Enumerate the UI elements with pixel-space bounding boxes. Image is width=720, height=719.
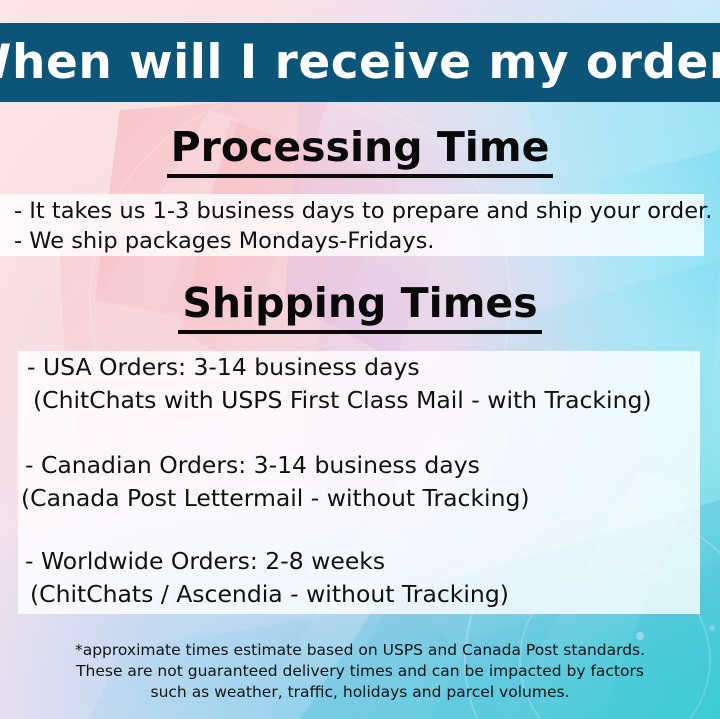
disclaimer-line-2: These are not guaranteed delivery times …: [0, 661, 720, 682]
section-heading-processing-time-label: Processing Time: [167, 127, 554, 178]
shipping-info-poster: When will I receive my order? Processing…: [0, 0, 720, 719]
section-heading-shipping-times: Shipping Times: [0, 283, 720, 334]
page-title: When will I receive my order?: [0, 39, 720, 86]
shipping-entry-canada-carrier: (Canada Post Lettermail - without Tracki…: [21, 487, 530, 511]
disclaimer-line-1: *approximate times estimate based on USP…: [0, 640, 720, 661]
disclaimer-line-3: such as weather, traffic, holidays and p…: [0, 682, 720, 703]
poster-title-bar: When will I receive my order?: [0, 23, 720, 102]
shipping-entry-usa-label: - USA Orders: 3-14 business days: [27, 356, 420, 380]
disclaimer-note: *approximate times estimate based on USP…: [0, 640, 720, 703]
section-heading-shipping-times-label: Shipping Times: [178, 283, 541, 334]
shipping-entry-worldwide-label: - Worldwide Orders: 2-8 weeks: [25, 550, 385, 574]
section-heading-processing-time: Processing Time: [0, 127, 720, 178]
shipping-entry-usa-carrier: (ChitChats with USPS First Class Mail - …: [33, 389, 652, 413]
shipping-entry-worldwide-carrier: (ChitChats / Ascendia - without Tracking…: [30, 583, 509, 607]
processing-time-line-1: - It takes us 1-3 business days to prepa…: [14, 200, 712, 223]
shipping-entry-canada-label: - Canadian Orders: 3-14 business days: [25, 454, 480, 478]
processing-time-line-2: - We ship packages Mondays-Fridays.: [14, 230, 434, 253]
